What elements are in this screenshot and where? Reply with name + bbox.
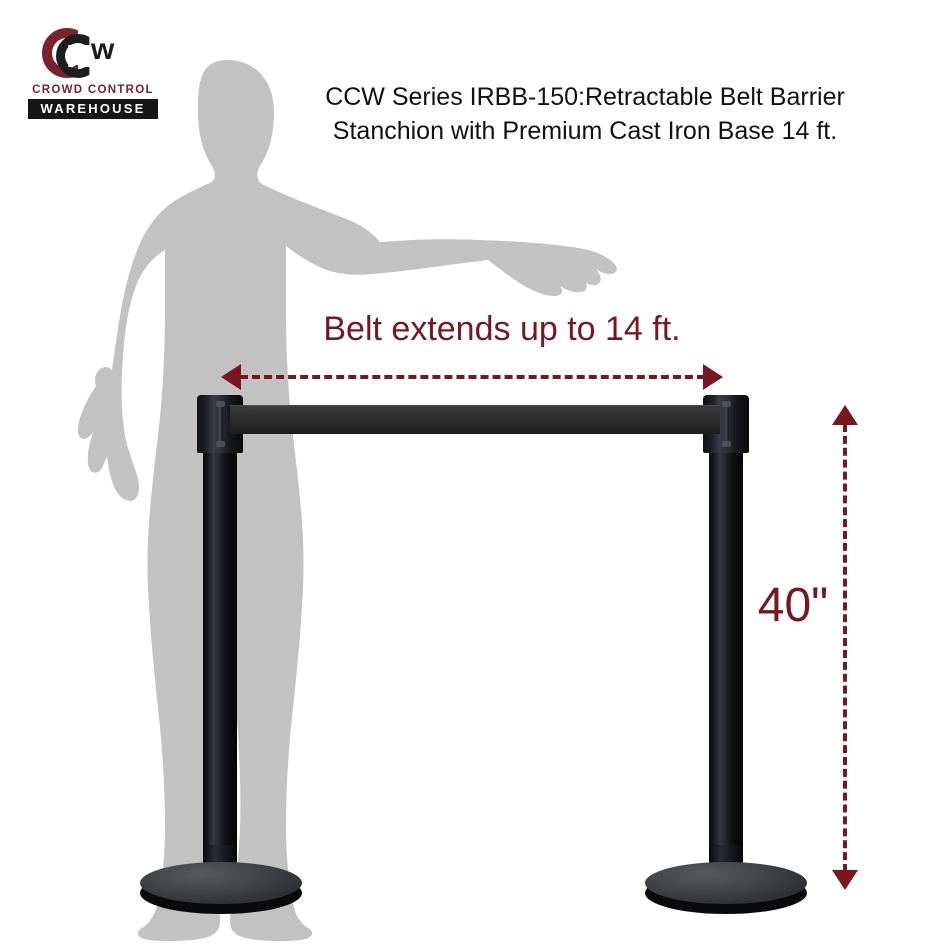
arrow-right-icon [703,364,723,390]
belt-slot-right [724,405,729,443]
retractable-belt [230,405,720,434]
arrow-down-icon [832,870,858,890]
product-title: CCW Series IRBB-150:Retractable Belt Bar… [255,80,915,148]
post-tube-right [709,420,743,880]
brand-name-line2: WAREHOUSE [28,99,158,119]
cassette-notch-top-right [722,401,731,407]
cassette-notch-top-left [216,401,225,407]
cassette-notch-bottom-right [722,441,731,447]
post-tube-left [203,420,237,880]
product-image-canvas: w CROWD CONTROL WAREHOUSE CCW Series IRB… [0,0,950,950]
cast-iron-base-right [645,862,807,904]
belt-span-dashed-line [240,375,705,379]
height-dashed-line [843,424,847,872]
ccw-logo-icon: w [28,26,158,82]
silhouette-body [78,60,617,941]
brand-name-line1: CROWD CONTROL [28,84,158,96]
belt-span-label: Belt extends up to 14 ft. [262,310,742,349]
belt-slot-left [218,405,223,443]
cast-iron-base-left [140,862,302,904]
arrow-up-icon [832,405,858,425]
human-silhouette [60,50,660,950]
arrow-left-icon [221,364,241,390]
cassette-notch-bottom-left [216,441,225,447]
logo-w-letter: w [91,33,113,67]
height-label: 40" [748,578,838,633]
brand-logo: w CROWD CONTROL WAREHOUSE [28,26,158,118]
